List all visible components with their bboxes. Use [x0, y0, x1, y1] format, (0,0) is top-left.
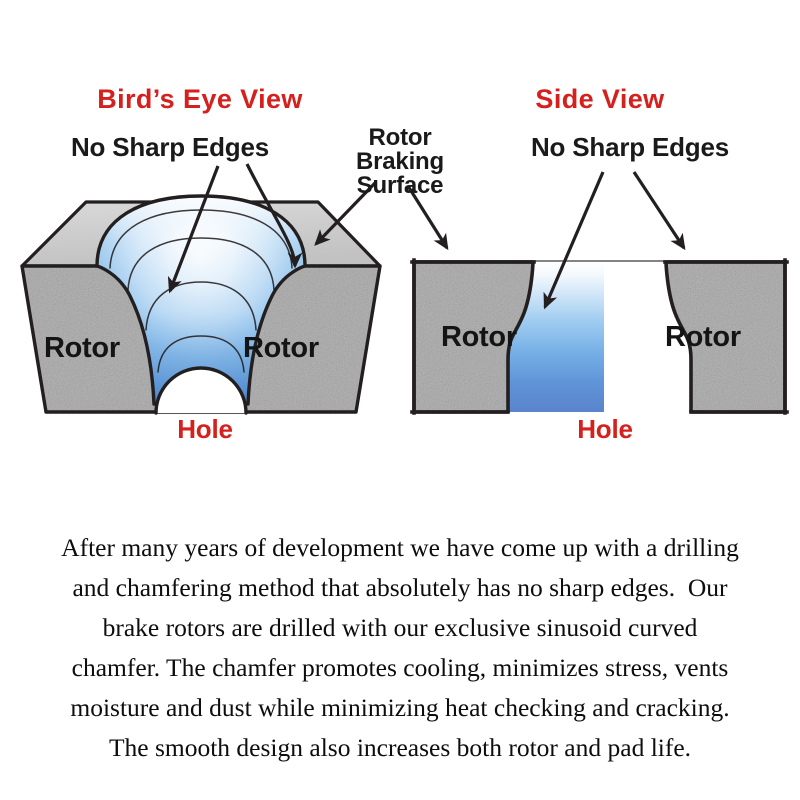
- caption-line: After many years of development we have …: [8, 528, 792, 568]
- caption-line: and chamfering method that absolutely ha…: [8, 568, 792, 608]
- side-view-illustration: [408, 172, 787, 413]
- caption-line: chamfer. The chamfer promotes cooling, m…: [8, 648, 792, 688]
- birds-eye-hole-label: Hole: [100, 416, 310, 443]
- side-view-hole-label: Hole: [500, 416, 710, 443]
- side-view-rotor-left-label: Rotor: [441, 321, 517, 354]
- side-view-title: Side View: [400, 86, 800, 114]
- caption-paragraph: After many years of development we have …: [8, 528, 792, 768]
- birds-eye-rotor-right-label: Rotor: [243, 332, 319, 365]
- caption-line: brake rotors are drilled with our exclus…: [8, 608, 792, 648]
- birds-eye-view-illustration: [22, 164, 380, 413]
- birds-eye-view-title: Bird’s Eye View: [0, 86, 400, 114]
- caption-line: The smooth design also increases both ro…: [8, 728, 792, 768]
- caption-line: moisture and dust while minimizing heat …: [8, 688, 792, 728]
- birds-eye-no-sharp-edges-label: No Sharp Edges: [0, 134, 340, 161]
- side-view-no-sharp-edges-label: No Sharp Edges: [430, 134, 800, 161]
- sv-arrow-nse-right: [634, 172, 684, 248]
- birds-eye-rotor-left-label: Rotor: [44, 332, 120, 365]
- rotor-braking-surface-label: Rotor Braking Surface: [334, 126, 466, 198]
- figure-root: Bird’s Eye View Side View No Sharp Edges…: [0, 0, 800, 800]
- side-view-rotor-right-label: Rotor: [665, 321, 741, 354]
